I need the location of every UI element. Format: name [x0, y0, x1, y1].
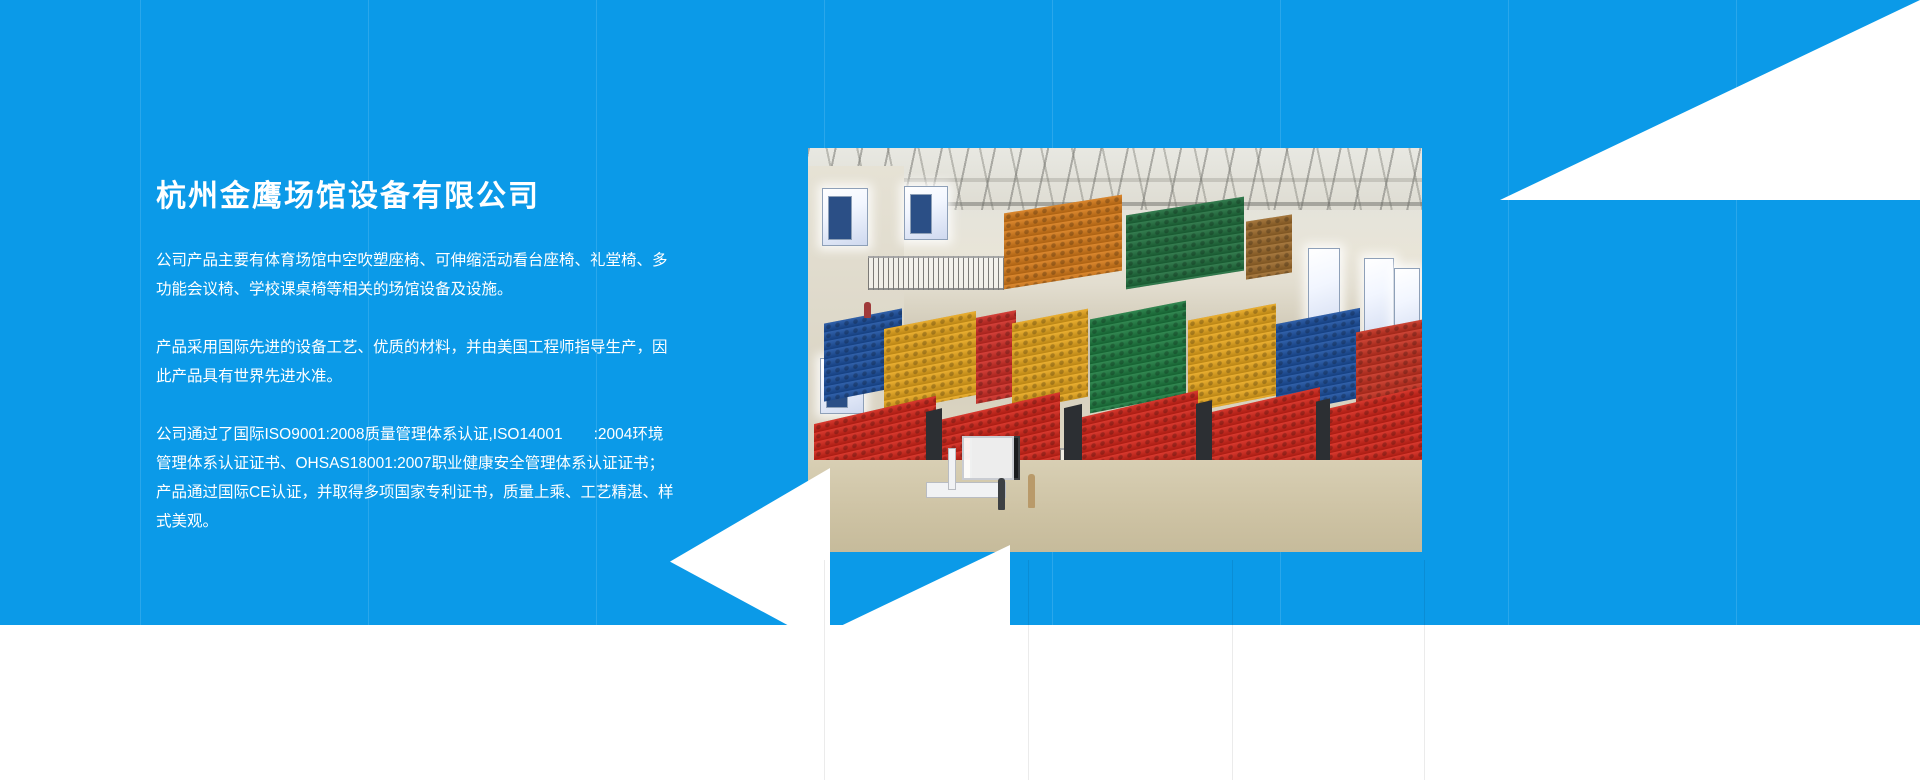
person — [998, 478, 1005, 510]
banner-paragraph-certifications: 公司通过了国际ISO9001:2008质量管理体系认证,ISO14001 :20… — [156, 420, 676, 536]
basketball-backboard — [962, 436, 1014, 480]
arena-floor — [808, 460, 1422, 552]
stand-upper-green — [1126, 197, 1244, 290]
person — [1028, 474, 1035, 508]
page-bottom-area — [0, 625, 1920, 780]
arena-photo — [808, 148, 1422, 552]
layout-column-separator — [824, 560, 825, 780]
stand-upper-brown — [1246, 214, 1292, 279]
banner-text-column: 杭州金鹰场馆设备有限公司 公司产品主要有体育场馆中空吹塑座椅、可伸缩活动看台座椅… — [156, 178, 676, 536]
layout-column-separator — [1028, 560, 1029, 780]
wall-window-pane — [910, 194, 932, 234]
balcony-rail — [868, 256, 1004, 290]
banner-stage: 杭州金鹰场馆设备有限公司 公司产品主要有体育场馆中空吹塑座椅、可伸缩活动看台座椅… — [0, 0, 1920, 780]
layout-column-separator — [1232, 560, 1233, 780]
stand-mid-yellow-c — [1188, 303, 1276, 412]
layout-column-separator — [1424, 560, 1425, 780]
banner-paragraph-quality: 产品采用国际先进的设备工艺、优质的材料，并由美国工程师指导生产，因此产品具有世界… — [156, 333, 676, 391]
basketball-hoop-base — [926, 482, 1006, 498]
basketball-hoop-pole — [948, 448, 956, 490]
banner-paragraph-products: 公司产品主要有体育场馆中空吹塑座椅、可伸缩活动看台座椅、礼堂椅、多功能会议椅、学… — [156, 246, 676, 304]
page-title: 杭州金鹰场馆设备有限公司 — [156, 178, 676, 216]
wall-window-pane — [828, 196, 852, 240]
stand-mid-red-a — [976, 310, 1016, 404]
person — [864, 302, 871, 318]
arena-photo-scene — [808, 148, 1422, 552]
